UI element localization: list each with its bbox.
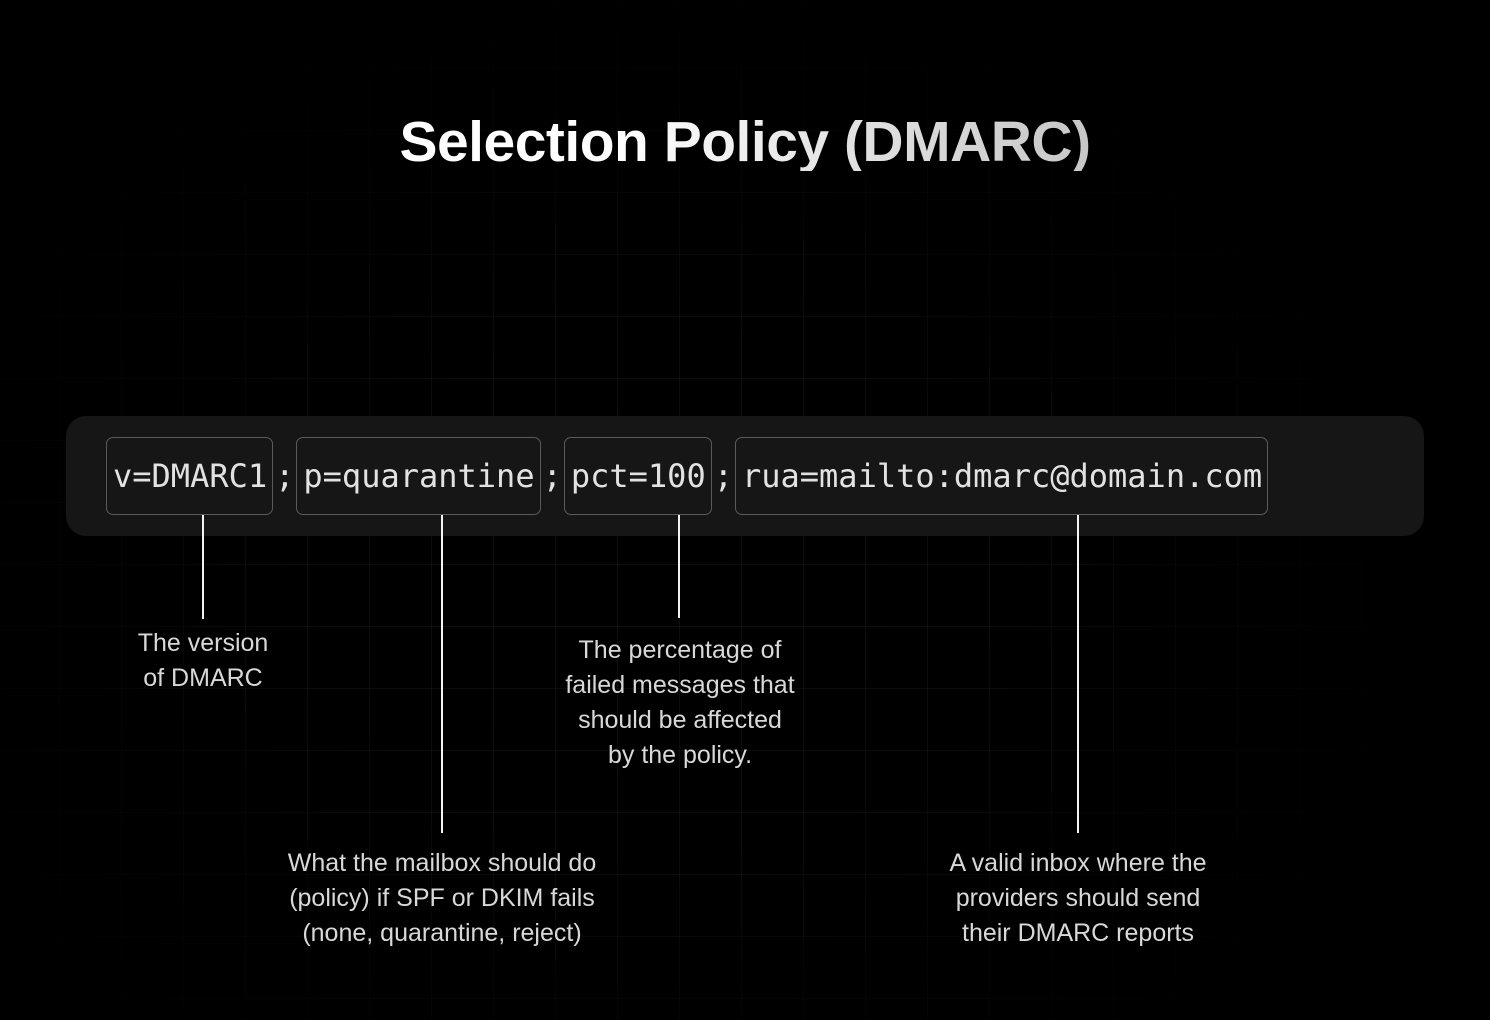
token-separator-1: ;: [273, 460, 296, 492]
connector-line-version: [202, 515, 204, 619]
annotation-reporting-address: A valid inbox where the providers should…: [886, 846, 1270, 951]
token-reporting-address[interactable]: rua=mailto:dmarc@domain.com: [735, 437, 1268, 515]
token-policy[interactable]: p=quarantine: [296, 437, 540, 515]
token-percentage[interactable]: pct=100: [564, 437, 712, 515]
dmarc-policy-infographic: Selection Policy (DMARC) v=DMARC1 ; p=qu…: [0, 0, 1490, 1020]
annotation-version: The version of DMARC: [78, 626, 328, 696]
connector-line-percentage: [678, 515, 680, 618]
connector-line-policy: [441, 515, 443, 833]
dmarc-record-line: v=DMARC1 ; p=quarantine ; pct=100 ; rua=…: [106, 437, 1268, 515]
token-version[interactable]: v=DMARC1: [106, 437, 273, 515]
token-separator-2: ;: [541, 460, 564, 492]
dmarc-record-panel: v=DMARC1 ; p=quarantine ; pct=100 ; rua=…: [66, 416, 1424, 536]
connector-line-reporting-address: [1077, 515, 1079, 833]
token-separator-3: ;: [712, 460, 735, 492]
page-title: Selection Policy (DMARC): [0, 114, 1490, 171]
annotation-policy: What the mailbox should do (policy) if S…: [222, 846, 662, 951]
annotation-percentage: The percentage of failed messages that s…: [504, 633, 856, 773]
